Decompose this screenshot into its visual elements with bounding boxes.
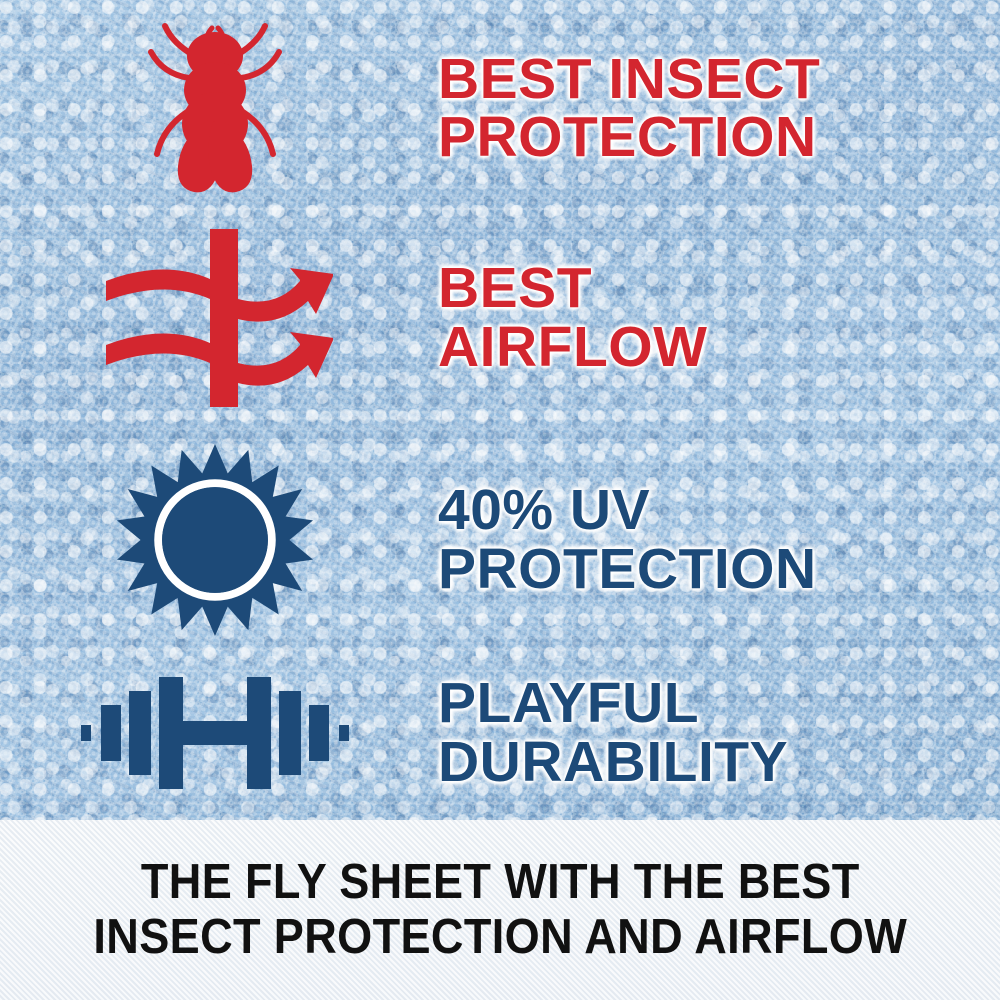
sun-uv-icon <box>117 442 313 638</box>
feature-row-airflow: BEST AIRFLOW <box>0 215 1000 420</box>
feature-label-airflow: BEST AIRFLOW <box>438 259 1000 375</box>
feature-row-uv-protection: 40% UV PROTECTION <box>0 432 1000 647</box>
icon-cell <box>0 665 430 801</box>
caption-band: THE FLY SHEET WITH THE BEST INSECT PROTE… <box>0 820 1000 1000</box>
feature-row-insect-protection: BEST INSECT PROTECTION <box>0 8 1000 208</box>
text-cell: PLAYFUL DURABILITY <box>430 674 1000 790</box>
infographic-poster: BEST INSECT PROTECTION <box>0 0 1000 1000</box>
caption-text: THE FLY SHEET WITH THE BEST INSECT PROTE… <box>93 855 907 965</box>
feature-label-durability: PLAYFUL DURABILITY <box>438 674 1000 790</box>
fly-icon <box>135 16 295 201</box>
feature-label-insect-protection: BEST INSECT PROTECTION <box>438 50 1000 166</box>
airflow-icon <box>98 223 333 413</box>
text-cell: BEST INSECT PROTECTION <box>430 50 1000 166</box>
icon-cell <box>0 442 430 638</box>
dumbbell-icon <box>81 665 349 801</box>
icon-cell <box>0 223 430 413</box>
feature-list: BEST INSECT PROTECTION <box>0 0 1000 820</box>
feature-row-durability: PLAYFUL DURABILITY <box>0 650 1000 815</box>
text-cell: BEST AIRFLOW <box>430 259 1000 375</box>
text-cell: 40% UV PROTECTION <box>430 481 1000 597</box>
icon-cell <box>0 16 430 201</box>
feature-label-uv-protection: 40% UV PROTECTION <box>438 481 1000 597</box>
